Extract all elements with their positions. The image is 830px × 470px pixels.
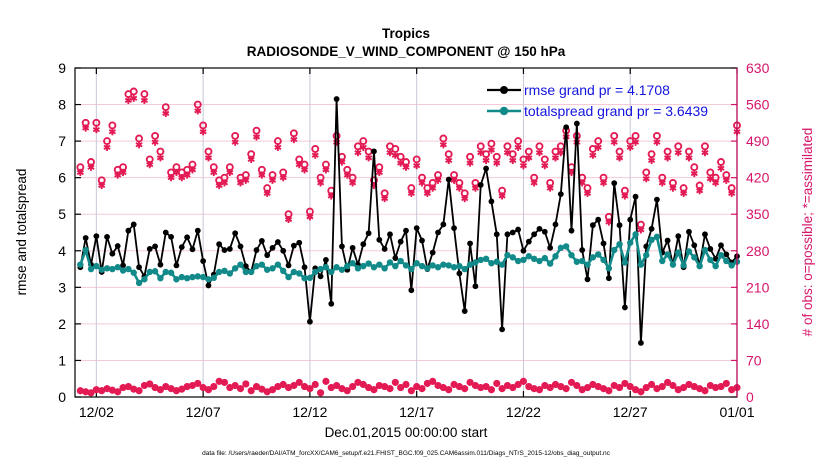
obs-rejected-marker	[617, 384, 623, 391]
x-tick-label: 12/27	[613, 404, 648, 420]
obs-rejected-marker	[403, 381, 409, 388]
chart-title: Tropics	[382, 26, 430, 41]
y-tick-label-left: 0	[58, 389, 66, 405]
obs-rejected-marker	[488, 386, 494, 393]
obs-rejected-marker	[296, 379, 302, 386]
y-tick-label-right: 0	[746, 389, 754, 405]
obs-rejected-marker	[248, 387, 254, 394]
obs-rejected-marker	[307, 385, 313, 392]
y-axis-label-right: # of obs: o=possible; *=assimilated	[800, 128, 815, 337]
y-tick-label-right: 420	[746, 170, 770, 186]
x-tick-label: 12/07	[186, 404, 221, 420]
obs-rejected-marker	[136, 387, 142, 394]
obs-rejected-marker	[344, 387, 350, 394]
obs-rejected-marker	[312, 381, 318, 388]
y-tick-label-left: 7	[58, 133, 66, 149]
obs-rejected-marker	[702, 387, 708, 394]
obs-rejected-marker	[195, 380, 201, 387]
observation-diagnostics-figure: Tropics RADIOSONDE_V_WIND_COMPONENT @ 15…	[0, 0, 830, 470]
y-tick-label-left: 4	[58, 243, 66, 259]
obs-rejected-marker	[638, 388, 644, 395]
obs-rejected-marker	[238, 385, 244, 392]
y-axis-label-left: rmse and totalspread	[14, 169, 29, 296]
y-tick-label-left: 3	[58, 279, 66, 295]
x-tick-label: 12/02	[79, 404, 114, 420]
obs-rejected-marker	[392, 379, 398, 386]
obs-rejected-marker	[318, 389, 324, 396]
legend-label-rmse: rmse grand pr = 4.1708	[524, 82, 670, 98]
y-tick-label-left: 6	[58, 170, 66, 186]
obs-rejected-marker	[243, 381, 249, 388]
obs-rejected-marker	[371, 386, 377, 393]
y-tick-label-left: 9	[58, 60, 66, 76]
obs-rejected-marker	[323, 378, 329, 385]
obs-rejected-marker	[222, 379, 228, 386]
obs-rejected-marker	[563, 385, 569, 392]
y-tick-label-right: 70	[746, 352, 762, 368]
obs-rejected-marker	[649, 381, 655, 388]
y-tick-label-left: 5	[58, 206, 66, 222]
obs-rejected-marker	[462, 385, 468, 392]
y-tick-label-right: 280	[746, 243, 770, 259]
obs-rejected-marker	[115, 388, 121, 395]
obs-rejected-marker	[211, 383, 217, 390]
x-axis-label: Dec.01,2015 00:00:00 start	[325, 425, 488, 440]
x-tick-label: 12/22	[506, 404, 541, 420]
obs-rejected-marker	[574, 382, 580, 389]
obs-rejected-marker	[430, 378, 436, 385]
x-tick-label: 12/12	[292, 404, 327, 420]
obs-rejected-marker	[537, 386, 543, 393]
y-tick-label-right: 350	[746, 206, 770, 222]
x-tick-label: 12/17	[399, 404, 434, 420]
chart-subtitle: RADIOSONDE_V_WIND_COMPONENT @ 150 hPa	[247, 44, 566, 59]
obs-rejected-marker	[659, 383, 665, 390]
obs-rejected-marker	[419, 385, 425, 392]
legend-marker-totalspread	[500, 107, 508, 115]
obs-rejected-marker	[494, 380, 500, 387]
obs-rejected-marker	[723, 380, 729, 387]
obs-rejected-marker	[387, 385, 393, 392]
obs-rejected-marker	[350, 383, 356, 390]
data-file-footer: data file: /Users/raeder/DAI/ATM_forcXX/…	[202, 450, 611, 457]
y-tick-label-left: 1	[58, 352, 66, 368]
y-tick-label-right: 560	[746, 97, 770, 113]
y-tick-label-left: 2	[58, 316, 66, 332]
legend-marker-rmse	[500, 86, 508, 94]
obs-rejected-marker	[521, 378, 527, 385]
obs-rejected-marker	[408, 387, 414, 394]
y-tick-label-right: 490	[746, 133, 770, 149]
y-tick-label-left: 8	[58, 97, 66, 113]
y-tick-label-right: 140	[746, 316, 770, 332]
x-tick-label: 01/01	[719, 404, 754, 420]
obs-rejected-marker	[606, 387, 612, 394]
legend-label-totalspread: totalspread grand pr = 3.6439	[524, 103, 708, 119]
obs-rejected-marker	[446, 386, 452, 393]
y-tick-label-right: 630	[746, 60, 770, 76]
y-tick-label-right: 210	[746, 279, 770, 295]
obs-rejected-marker	[670, 382, 676, 389]
